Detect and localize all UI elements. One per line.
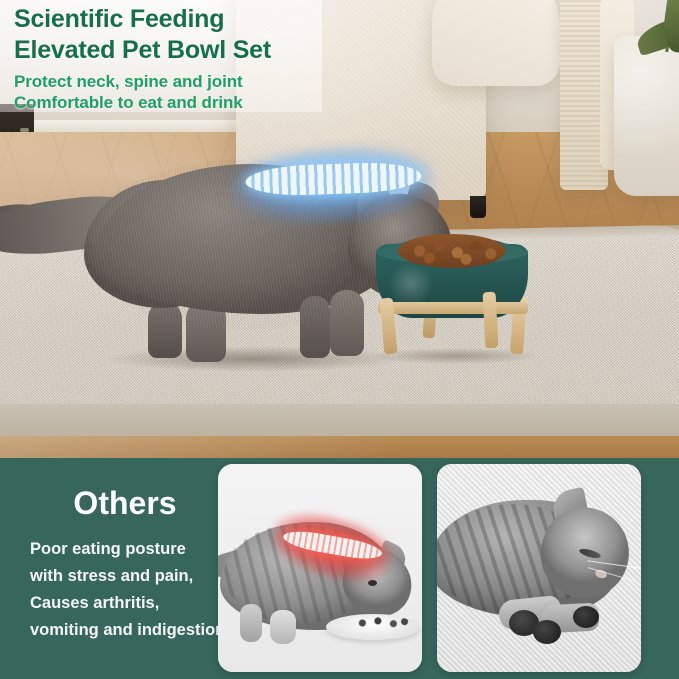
subheadline-line-1: Protect neck, spine and joint: [14, 71, 354, 92]
others-heading: Others: [30, 484, 220, 522]
plant-pot-highlight: [614, 36, 679, 196]
floor-strip-gloss: [0, 436, 679, 458]
others-bullet-line: Poor eating posture: [30, 536, 220, 563]
card-a-cat-leg: [270, 610, 296, 644]
stand-frame: [378, 302, 528, 314]
subheadline-line-2: Comfortable to eat and drink: [14, 92, 354, 113]
product-infographic: Scientific Feeding Elevated Pet Bowl Set…: [0, 0, 679, 679]
headline-line-2: Elevated Pet Bowl Set: [14, 35, 354, 66]
others-bullet-line: vomiting and indigestion: [30, 617, 220, 644]
headline-block: Scientific Feeding Elevated Pet Bowl Set…: [14, 4, 354, 113]
others-bullet-line: Causes arthritis,: [30, 590, 220, 617]
card-b-paw-pad: [573, 606, 599, 628]
card-a-cat-leg: [240, 604, 262, 642]
others-copy-block: Others Poor eating posture with stress a…: [30, 484, 220, 644]
headline-line-1: Scientific Feeding: [14, 4, 354, 35]
elevated-pet-bowl: [372, 236, 544, 358]
bowl-highlight: [388, 262, 434, 306]
unwell-cat-photo-card: [437, 464, 641, 672]
subheadline-block: Protect neck, spine and joint Comfortabl…: [14, 71, 354, 113]
sofa-armrest: [432, 0, 560, 86]
hero-lifestyle-photo: Scientific Feeding Elevated Pet Bowl Set…: [0, 0, 679, 458]
healthy-spine-overlay: [244, 150, 424, 222]
bad-posture-photo-card: [218, 464, 422, 672]
sofa-leg: [470, 196, 486, 218]
others-bullet-line: with stress and pain,: [30, 563, 220, 590]
card-b-paw-pad: [533, 620, 561, 644]
card-a-food: [350, 616, 412, 630]
